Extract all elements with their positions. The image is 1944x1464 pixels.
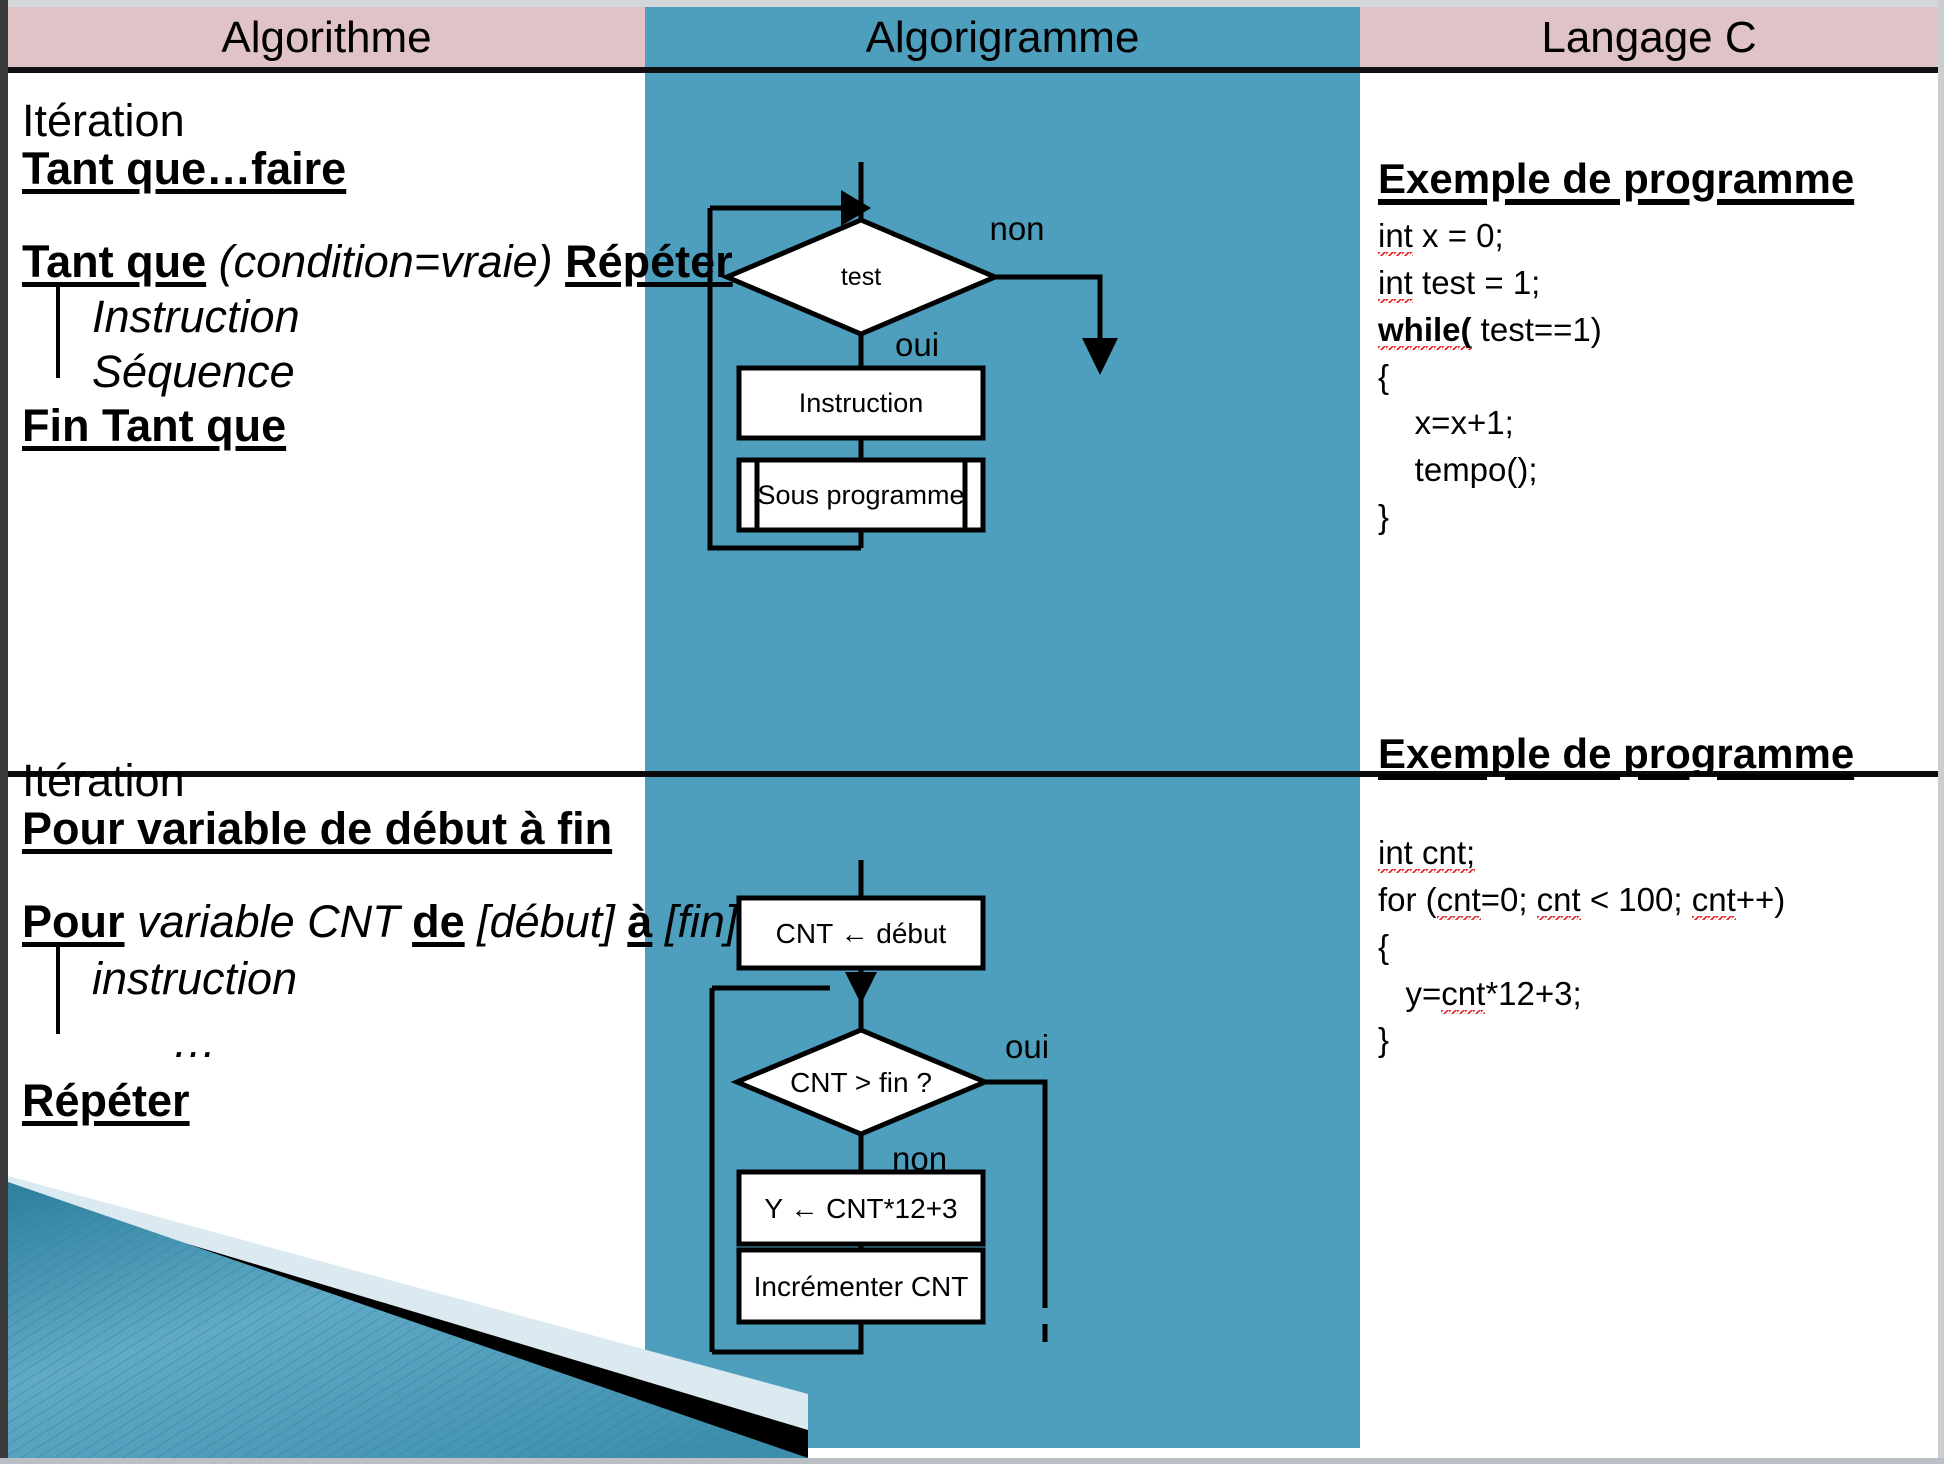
slide-canvas: Algorithme Algorigramme Langage C Itérat… bbox=[0, 0, 1944, 1464]
loop-start: [début] bbox=[477, 896, 615, 947]
c-code-line: } bbox=[1378, 1017, 1854, 1064]
algorithm-heading-1: Itération bbox=[22, 98, 733, 143]
flow2-branch-no-label: non bbox=[892, 1140, 947, 1177]
algorithm-block-bar-1 bbox=[56, 285, 60, 378]
flow2-init-label: CNT ← début bbox=[776, 918, 947, 949]
c-code-line: int cnt; bbox=[1378, 830, 1854, 877]
flow1-decision-label: test bbox=[841, 263, 881, 291]
slide-edge-right bbox=[1938, 0, 1944, 1464]
slide-edge-bottom bbox=[0, 1458, 1944, 1464]
keyword-pour: Pour bbox=[22, 896, 125, 947]
header-title-algorithme: Algorithme bbox=[8, 10, 645, 66]
header-divider-rule bbox=[8, 67, 1938, 73]
arrowhead-loopback-2 bbox=[845, 972, 877, 1004]
algorithm-text-for: Itération Pour variable de début à fin P… bbox=[22, 758, 737, 1123]
algorithm-subheading-2-text: Pour variable de début à fin bbox=[22, 803, 612, 854]
algorithm-body-sequence: Séquence bbox=[22, 349, 733, 394]
c-code-while: Exemple de programme int x = 0; int test… bbox=[1378, 155, 1854, 541]
c-code-line: while( test==1) bbox=[1378, 307, 1854, 354]
header-title-algorigramme: Algorigramme bbox=[645, 10, 1360, 66]
keyword-repeter-2: Répéter bbox=[22, 1075, 190, 1126]
c-code-line: { bbox=[1378, 354, 1854, 401]
keyword-tant-que: Tant que bbox=[22, 236, 206, 287]
algorithm-text-while: Itération Tant que…faire Tant que (condi… bbox=[22, 98, 733, 448]
algorithm-subheading-2: Pour variable de début à fin bbox=[22, 806, 737, 851]
arrowhead-exit bbox=[1082, 338, 1118, 375]
keyword-fin-tant-que: Fin Tant que bbox=[22, 400, 286, 451]
c-code-title-2: Exemple de programme bbox=[1378, 730, 1854, 778]
algorithm-pseudocode-line-1: Tant que (condition=vraie) Répéter bbox=[22, 239, 733, 284]
c-code-for: Exemple de programme int cnt; for (cnt=0… bbox=[1378, 730, 1854, 1064]
c-code-line: int test = 1; bbox=[1378, 260, 1854, 307]
c-code-line: int x = 0; bbox=[1378, 213, 1854, 260]
loop-variable: variable CNT bbox=[137, 896, 400, 947]
c-code-title-1: Exemple de programme bbox=[1378, 155, 1854, 203]
algorithm-body-instruction-2: instruction bbox=[22, 956, 737, 1001]
algorithm-end-keyword: Fin Tant que bbox=[22, 403, 733, 448]
flow2-branch-yes-label: oui bbox=[1005, 1028, 1049, 1065]
flow1-subroutine-label: Sous programme bbox=[757, 480, 964, 510]
algorithm-block-bar-2 bbox=[56, 942, 60, 1034]
c-code-line: { bbox=[1378, 924, 1854, 971]
c-code-line: tempo(); bbox=[1378, 447, 1854, 494]
slide-edge-top bbox=[0, 0, 1944, 7]
header-title-langage-c: Langage C bbox=[1360, 10, 1938, 66]
algorithm-body-ellipsis: … bbox=[22, 1019, 737, 1064]
flow2-decision-label: CNT > fin ? bbox=[790, 1067, 932, 1098]
algorithm-body-instruction: Instruction bbox=[22, 294, 733, 339]
slide-corner-graphic bbox=[8, 1168, 808, 1458]
c-code-line: y=cnt*12+3; bbox=[1378, 971, 1854, 1018]
algorithm-heading-2: Itération bbox=[22, 758, 737, 803]
algorithm-subheading-1: Tant que…faire bbox=[22, 146, 733, 191]
algorithm-pseudocode-line-2: Pour variable CNT de [début] à [fin] bbox=[22, 899, 737, 944]
c-code-line: for (cnt=0; cnt < 100; cnt++) bbox=[1378, 877, 1854, 924]
condition-expression: (condition=vraie) bbox=[219, 236, 553, 287]
keyword-de: de bbox=[412, 896, 465, 947]
flow1-branch-no-label: non bbox=[989, 210, 1044, 247]
algorithm-subheading-1-text: Tant que…faire bbox=[22, 143, 346, 194]
flowchart-while-loop: test non oui Instruction Sous programme bbox=[645, 80, 1360, 685]
c-code-line: x=x+1; bbox=[1378, 400, 1854, 447]
slide-edge-left bbox=[0, 0, 8, 1464]
algorithm-repeat-keyword: Répéter bbox=[22, 1078, 737, 1123]
flow1-branch-yes-label: oui bbox=[895, 326, 939, 363]
flow1-process-label: Instruction bbox=[799, 388, 924, 418]
c-code-line: } bbox=[1378, 494, 1854, 541]
